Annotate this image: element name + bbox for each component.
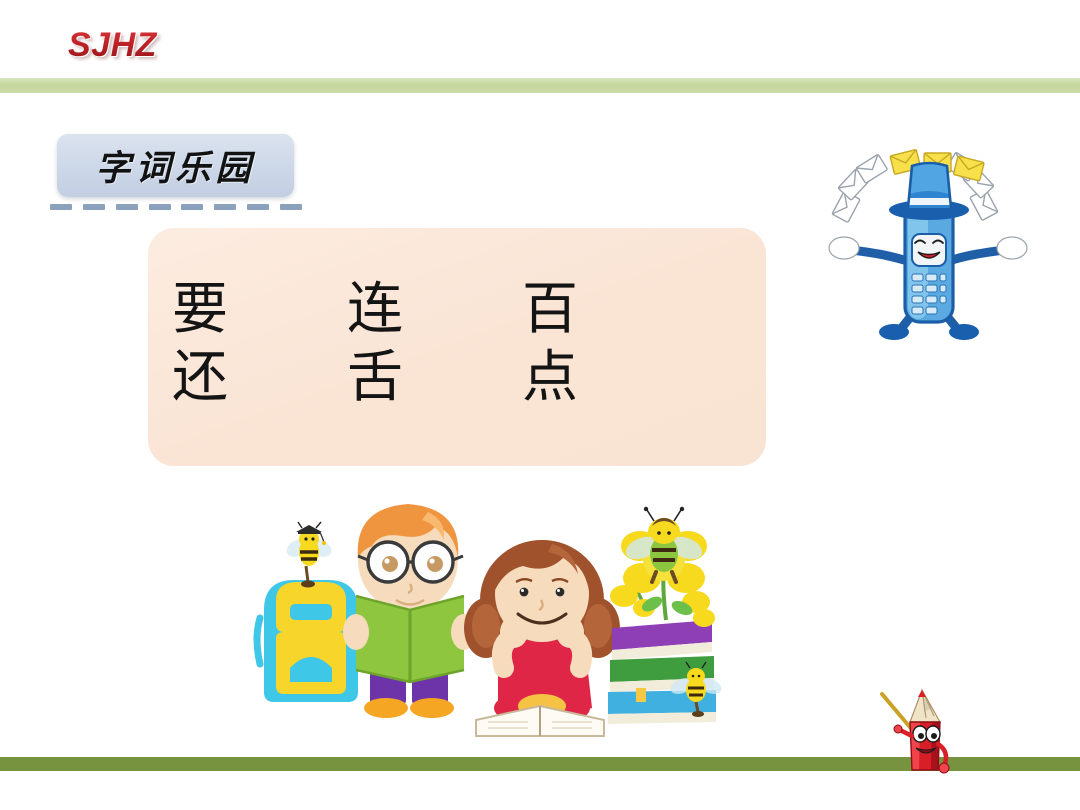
dash-segment bbox=[280, 204, 302, 210]
vocabulary-character[interactable]: 连 bbox=[335, 276, 510, 344]
vocabulary-row: 还 舌 点 bbox=[160, 344, 766, 412]
boy-reading bbox=[343, 504, 477, 718]
vocabulary-grid: 要 连 百 还 舌 点 bbox=[148, 276, 766, 412]
dash-segment bbox=[83, 204, 105, 210]
dash-segment bbox=[247, 204, 269, 210]
dash-segment bbox=[181, 204, 203, 210]
vocabulary-character[interactable]: 百 bbox=[510, 276, 685, 344]
vocabulary-row: 要 连 百 bbox=[160, 276, 766, 344]
girl-reading bbox=[464, 540, 620, 736]
pencil-mascot-illustration bbox=[880, 688, 976, 776]
slide-canvas: SJHZ 字词乐园 要 连 百 还 舌 点 bbox=[0, 0, 1080, 810]
section-title-box: 字词乐园 bbox=[57, 134, 294, 197]
section-title-dashed-underline bbox=[50, 204, 302, 210]
vocabulary-character[interactable]: 还 bbox=[160, 344, 335, 412]
graduation-bee bbox=[284, 522, 335, 588]
vocabulary-panel: 要 连 百 还 舌 点 bbox=[148, 228, 766, 466]
dash-segment bbox=[116, 204, 138, 210]
phone-mascot-illustration bbox=[812, 142, 1044, 340]
vocabulary-character[interactable]: 点 bbox=[510, 344, 685, 412]
header-divider-bar bbox=[0, 78, 1080, 93]
backpack bbox=[257, 580, 358, 702]
brand-logo: SJHZ bbox=[68, 26, 157, 65]
dash-segment bbox=[149, 204, 171, 210]
dash-segment bbox=[50, 204, 72, 210]
vocabulary-character[interactable]: 要 bbox=[160, 276, 335, 344]
children-reading-illustration bbox=[252, 492, 722, 737]
vocabulary-character[interactable]: 舌 bbox=[335, 344, 510, 412]
section-title-text: 字词乐园 bbox=[95, 140, 255, 191]
dash-segment bbox=[214, 204, 236, 210]
